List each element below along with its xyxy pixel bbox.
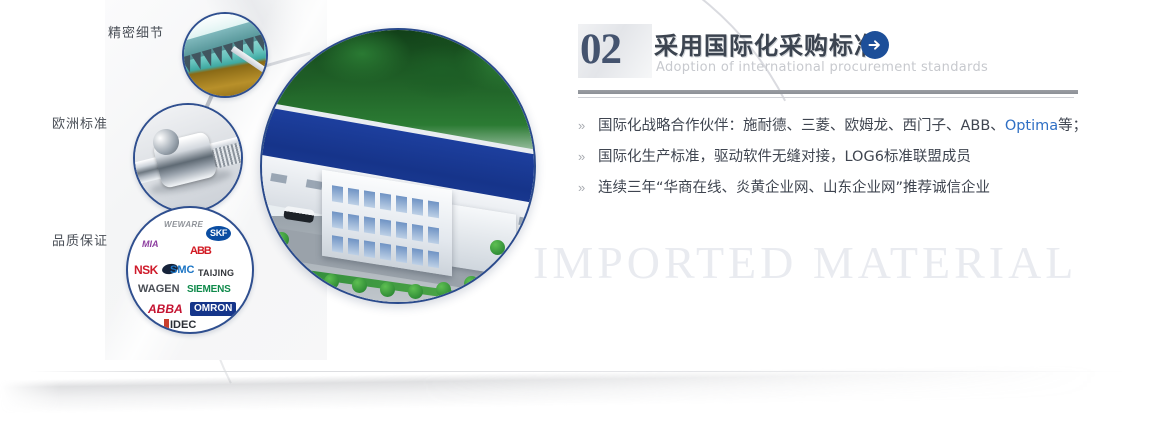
factory-photo-circle <box>260 28 536 304</box>
list-item-text-before: 国际化生产标准，驱动软件无缝对接，LOG6标准联盟成员 <box>598 149 971 165</box>
brand-logo-taijing: TAIJING <box>198 269 234 278</box>
brand-logo-omron: OMRON <box>190 302 236 316</box>
label-precision-detail: 精密细节 <box>108 22 164 41</box>
arrow-right-icon[interactable] <box>861 31 889 59</box>
header-divider <box>578 90 1078 94</box>
chevron-right-icon: » <box>578 116 598 136</box>
brand-logo-wagen: WAGEN <box>138 284 180 295</box>
precision-detail-bubble <box>182 12 268 98</box>
brand-logo-abba: ABBA <box>148 303 183 315</box>
header-divider-thin <box>578 97 1074 98</box>
label-european-standard: 欧洲标准 <box>52 113 108 132</box>
list-item-highlight: Optima <box>1005 118 1058 134</box>
feature-list: » 国际化战略合作伙伴：施耐德、三菱、欧姆龙、西门子、ABB、Optima等； … <box>578 116 1098 209</box>
list-item-text-before: 国际化战略合作伙伴：施耐德、三菱、欧姆龙、西门子、ABB、 <box>598 118 1005 134</box>
list-item-text-before: 连续三年“华商在线、炎黄企业网、山东企业网”推荐诚信企业 <box>598 180 990 196</box>
label-quality-assurance: 品质保证 <box>52 230 108 249</box>
brand-logo-cloud: WEWARE SKF MIA ABB NSK SMC TAIJING WAGEN… <box>128 208 252 332</box>
list-item: » 连续三年“华商在线、炎黄企业网、山东企业网”推荐诚信企业 <box>578 178 1098 209</box>
section-number: 02 <box>580 25 621 74</box>
content-column: 02 采用国际化采购标准 Adoption of international p… <box>578 22 1098 90</box>
quality-brands-bubble: WEWARE SKF MIA ABB NSK SMC TAIJING WAGEN… <box>126 206 254 334</box>
brand-logo-idec-mark <box>164 319 169 331</box>
list-item-text-after: 等； <box>1058 118 1087 134</box>
watermark-text: IMPORTED MATERIAL <box>533 236 1077 289</box>
brand-logo-siemens: SIEMENS <box>187 285 231 295</box>
european-standard-bubble <box>133 103 243 213</box>
brand-logo-nsk: NSK <box>134 264 158 276</box>
page-subtitle: Adoption of international procurement st… <box>656 60 988 75</box>
list-item: » 国际化战略合作伙伴：施耐德、三菱、欧姆龙、西门子、ABB、Optima等； <box>578 116 1098 147</box>
page-title: 采用国际化采购标准 <box>654 26 879 61</box>
brand-logo-mia: MIA <box>142 240 159 249</box>
factory-trees <box>268 236 530 304</box>
chevron-right-icon: » <box>578 147 598 167</box>
list-item: » 国际化生产标准，驱动软件无缝对接，LOG6标准联盟成员 <box>578 147 1098 178</box>
promo-banner: 精密细节 欧洲标准 品质保证 WEWARE SKF MIA ABB NSK <box>0 0 1150 430</box>
list-item-text: 国际化生产标准，驱动软件无缝对接，LOG6标准联盟成员 <box>598 147 971 167</box>
brand-logo-skf: SKF <box>206 226 231 241</box>
section-header: 02 采用国际化采购标准 Adoption of international p… <box>578 22 1098 90</box>
list-item-text: 连续三年“华商在线、炎黄企业网、山东企业网”推荐诚信企业 <box>598 178 990 198</box>
brand-logo-idec: IDEC <box>170 320 196 331</box>
brand-logo-smc: SMC <box>170 265 194 276</box>
brand-logo-abb: ABB <box>190 246 211 257</box>
chevron-right-icon: » <box>578 178 598 198</box>
brand-logo-weware: WEWARE <box>164 221 203 229</box>
list-item-text: 国际化战略合作伙伴：施耐德、三菱、欧姆龙、西门子、ABB、Optima等； <box>598 116 1087 136</box>
